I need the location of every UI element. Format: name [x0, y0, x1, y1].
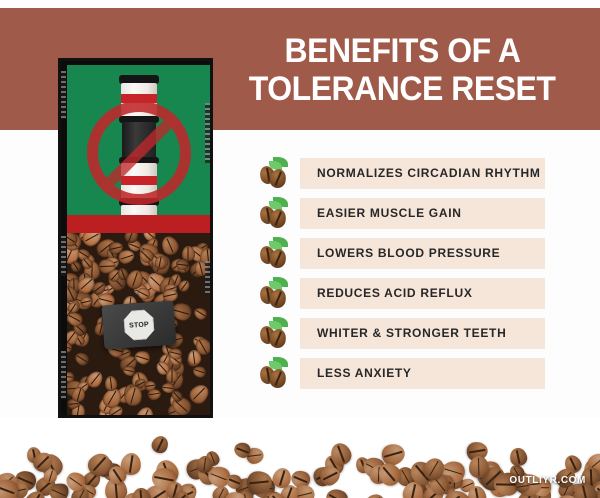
watermark-strip-left-mid [61, 236, 66, 276]
coffee-bean [193, 306, 210, 322]
watermark-strip-right-top [205, 103, 210, 163]
benefit-label: LOWERS BLOOD PRESSURE [317, 238, 500, 269]
watermark-strip-right-bottom [205, 261, 210, 295]
site-watermark: OUTLIYR.COM [509, 475, 586, 486]
coffee-bean-leaf-icon [257, 317, 293, 350]
coffee-bean [360, 490, 390, 498]
coffee-bean [104, 375, 118, 391]
benefit-row: WHITER & STRONGER TEETH [255, 318, 545, 349]
benefit-label: NORMALIZES CIRCADIAN RHYTHM [317, 158, 541, 189]
coffee-bean [468, 456, 488, 478]
title-line-1: BENEFITS OF A [285, 32, 521, 70]
benefits-list: NORMALIZES CIRCADIAN RHYTHMEASIER MUSCLE… [255, 158, 545, 398]
watermark-strip-left-top [61, 71, 66, 119]
coffee-bean-leaf-icon [257, 277, 293, 310]
benefit-row: EASIER MUSCLE GAIN [255, 198, 545, 229]
prohibition-slash [98, 112, 179, 193]
stop-label: STOP [128, 321, 148, 329]
stop-octagon-icon: STOP [122, 309, 154, 341]
benefit-row: NORMALIZES CIRCADIAN RHYTHM [255, 158, 545, 189]
coffee-bean-leaf-icon [257, 237, 293, 270]
coffee-bean [147, 388, 161, 401]
coffee-beans-scene: STOP [67, 233, 210, 417]
watermark-strip-left-bottom [61, 351, 66, 399]
benefit-row: REDUCES ACID REFLUX [255, 278, 545, 309]
benefit-label: WHITER & STRONGER TEETH [317, 318, 506, 349]
coffee-bean [323, 485, 353, 498]
coffee-bean [176, 258, 190, 270]
benefit-label: LESS ANXIETY [317, 358, 412, 389]
coffee-bean-leaf-icon [257, 357, 293, 390]
coffee-bean [509, 447, 529, 468]
page-title: BENEFITS OF A TOLERANCE RESET [215, 20, 590, 120]
benefit-label: REDUCES ACID REFLUX [317, 278, 473, 309]
coffee-bean-leaf-icon [257, 197, 293, 230]
coffee-bean [149, 434, 171, 457]
coffee-photo-panel: STOP [58, 58, 213, 418]
title-line-2: TOLERANCE RESET [249, 70, 556, 108]
infographic-canvas: BENEFITS OF A TOLERANCE RESET [0, 0, 600, 498]
photo-inner: STOP [67, 65, 210, 417]
benefit-label: EASIER MUSCLE GAIN [317, 198, 462, 229]
coffee-bean [134, 405, 157, 417]
no-coffee-scene [67, 65, 210, 233]
benefit-row: LESS ANXIETY [255, 358, 545, 389]
red-floor-strip [67, 215, 210, 233]
coffee-bean [73, 350, 91, 367]
benefit-row: LOWERS BLOOD PRESSURE [255, 238, 545, 269]
stop-sign-card: STOP [101, 301, 176, 350]
prohibition-sign-icon [87, 101, 191, 205]
coffee-bean-leaf-icon [257, 157, 293, 190]
bottom-bean-scatter [0, 418, 600, 498]
